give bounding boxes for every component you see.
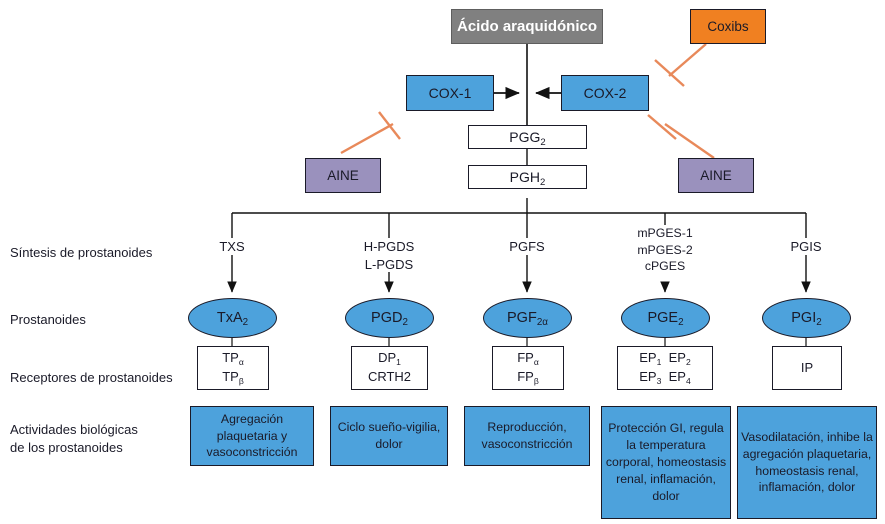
arachidonic-acid-label: Ácido araquidónico [457,18,597,35]
node-cox-1: COX-1 [406,75,494,111]
synthase-line: mPGES-2 [615,242,715,259]
node-activity-pgi2: Vasodilatación, inhibe la agregación pla… [737,406,877,519]
synthase-label-txs: TXS [182,238,282,256]
node-arachidonic-acid: Ácido araquidónico [451,9,603,44]
cox-1-label: COX-1 [429,85,472,101]
node-receptors-fp: FPα FPβ [492,346,564,390]
node-prostanoid-pge2: PGE2 [621,298,710,338]
node-activity-pgf2a: Reproducción, vasoconstricción [464,406,590,466]
pathway-diagram: Ácido araquidónico Coxibs COX-1 COX-2 PG… [0,0,885,524]
synthase-line: PGFS [477,238,577,256]
node-pgh2: PGH2 [468,165,587,189]
synthase-line: mPGES-1 [615,225,715,242]
node-receptors-tp: TPα TPβ [197,346,269,390]
node-activity-txa2: Agregación plaquetaria y vasoconstricció… [190,406,314,466]
synthase-line: H-PGDS [339,238,439,256]
row-label-synthesis: Síntesis de prostanoides [10,244,152,262]
pgh2-label: PGH2 [510,169,546,185]
aine-right-label: AINE [700,168,732,183]
node-activity-pgd2: Ciclo sueño-vigilia, dolor [330,406,448,466]
node-prostanoid-txa2: TxA2 [188,298,277,338]
cox-2-label: COX-2 [584,85,627,101]
synthase-line: L-PGDS [339,256,439,274]
pgg2-label: PGG2 [509,129,545,145]
node-cox-2: COX-2 [561,75,649,111]
node-prostanoid-pgi2: PGI2 [762,298,851,338]
synthase-line: PGIS [756,238,856,256]
synthase-line: TXS [182,238,282,256]
row-label-activities-line2: de los prostanoides [10,439,138,457]
synthase-label-pges: mPGES-1 mPGES-2 cPGES [615,225,715,275]
row-label-activities: Actividades biológicas de los prostanoid… [10,421,138,456]
synthase-label-pgfs: PGFS [477,238,577,256]
node-aine-right: AINE [678,158,754,193]
row-label-activities-line1: Actividades biológicas [10,421,138,439]
row-label-prostanoids: Prostanoides [10,311,86,329]
node-aine-left: AINE [305,158,381,193]
node-prostanoid-pgf2a: PGF2α [483,298,572,338]
row-label-receptors: Receptores de prostanoides [10,369,173,387]
node-coxibs: Coxibs [690,9,766,44]
node-receptors-ep: EP1 EP2 EP3 EP4 [617,346,713,390]
synthase-label-pgds: H-PGDS L-PGDS [339,238,439,273]
coxibs-label: Coxibs [707,19,748,34]
node-receptors-dp: DP1 CRTH2 [351,346,428,390]
node-prostanoid-pgd2: PGD2 [345,298,434,338]
node-activity-pge2: Protección GI, regula la temperatura cor… [601,406,731,519]
aine-left-label: AINE [327,168,359,183]
synthase-line: cPGES [615,258,715,275]
node-pgg2: PGG2 [468,125,587,149]
node-receptors-ip: IP [772,346,842,390]
synthase-label-pgis: PGIS [756,238,856,256]
